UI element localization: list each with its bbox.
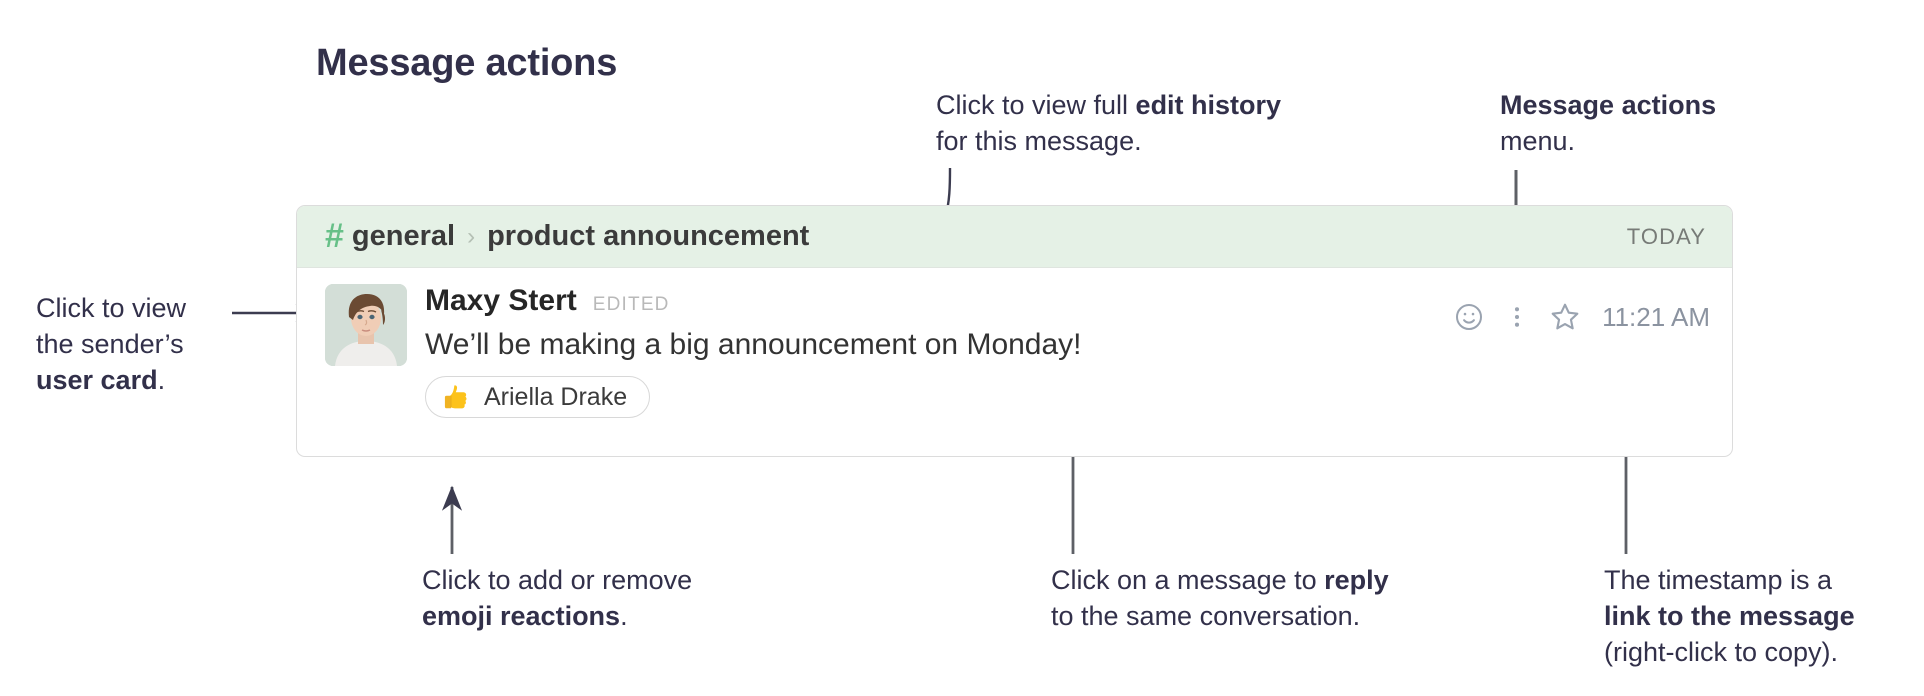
emoji-smiley-icon: [1453, 301, 1485, 333]
sender-name-link[interactable]: Maxy Stert: [425, 284, 577, 318]
screenshot-root: Message actions Click to view full: [0, 0, 1924, 696]
annotation-actions-menu-line2: menu.: [1500, 123, 1716, 159]
reaction-user-label: Ariella Drake: [484, 383, 627, 412]
annotation-emoji-line2-suffix: .: [620, 601, 628, 631]
vertical-ellipsis-icon: [1503, 301, 1531, 333]
message-reactions: Ariella Drake: [425, 376, 1706, 418]
stream-name-link[interactable]: general: [352, 220, 455, 253]
chevron-right-icon: ›: [467, 223, 475, 251]
edited-label[interactable]: EDITED: [593, 294, 670, 316]
annotation-emoji-line2-bold: emoji reactions: [422, 601, 620, 631]
thumbs-up-emoji-icon: [442, 382, 472, 412]
message-actions-menu-button[interactable]: [1496, 296, 1538, 338]
annotation-reply-line1-bold: reply: [1324, 565, 1389, 595]
add-reaction-button[interactable]: [1448, 296, 1490, 338]
topic-name-link[interactable]: product announcement: [487, 220, 809, 253]
message-card: # general › product announcement TODAY: [296, 205, 1733, 457]
annotation-edit-history-line2: for this message.: [936, 123, 1281, 159]
annotation-actions-menu-line1-bold: Message actions: [1500, 90, 1716, 120]
annotation-edit-history: Click to view full edit history for this…: [936, 87, 1281, 159]
user-avatar-image: [325, 284, 407, 366]
annotation-user-card-line1: Click to view: [36, 290, 186, 326]
recipient-bar: # general › product announcement TODAY: [297, 206, 1732, 268]
annotation-edit-history-line1-bold: edit history: [1136, 90, 1282, 120]
message-timestamp-link[interactable]: 11:21 AM: [1602, 302, 1710, 333]
reaction-pill[interactable]: Ariella Drake: [425, 376, 650, 418]
annotation-user-card: Click to view the sender’s user card.: [36, 290, 186, 398]
annotation-reply: Click on a message to reply to the same …: [1051, 562, 1389, 634]
annotation-emoji-line1: Click to add or remove: [422, 562, 692, 598]
star-message-button[interactable]: [1544, 296, 1586, 338]
annotation-timestamp: The timestamp is a link to the message (…: [1604, 562, 1855, 670]
annotation-edit-history-line1-prefix: Click to view full: [936, 90, 1136, 120]
annotation-user-card-line2: the sender’s: [36, 326, 186, 362]
message-date-label[interactable]: TODAY: [1627, 224, 1706, 250]
star-outline-icon: [1548, 300, 1582, 334]
annotation-timestamp-line3: (right-click to copy).: [1604, 634, 1855, 670]
annotation-user-card-line3-suffix: .: [158, 365, 166, 395]
annotation-actions-menu: Message actions menu.: [1500, 87, 1716, 159]
annotation-user-card-line3-bold: user card: [36, 365, 158, 395]
annotation-timestamp-line2-bold: link to the message: [1604, 601, 1855, 631]
message-row[interactable]: Maxy Stert EDITED We’ll be making a big …: [297, 268, 1732, 418]
page-title: Message actions: [316, 42, 617, 85]
message-controls: 11:21 AM: [1442, 296, 1710, 338]
annotation-reply-line2: to the same conversation.: [1051, 598, 1389, 634]
avatar[interactable]: [325, 284, 407, 366]
annotation-emoji-reactions: Click to add or remove emoji reactions.: [422, 562, 692, 634]
hash-icon: #: [325, 219, 344, 253]
annotation-timestamp-line1: The timestamp is a: [1604, 562, 1855, 598]
annotation-reply-line1-prefix: Click on a message to: [1051, 565, 1324, 595]
